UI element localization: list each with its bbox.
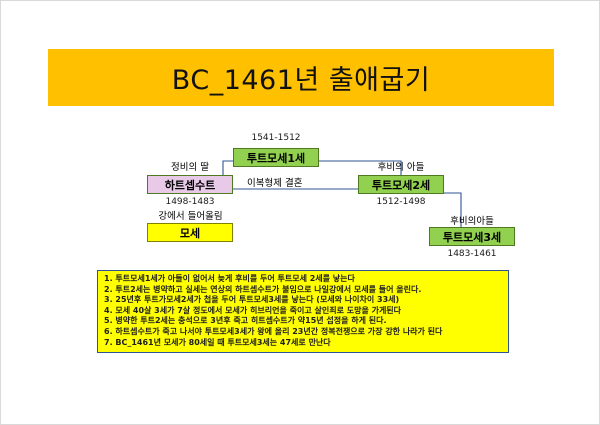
thutmose3-dates: 1483-1461 xyxy=(429,249,515,259)
notes-box: 1. 투트모세1세가 아들이 없어서 늦게 후비를 두어 투트모세 2세를 낳는… xyxy=(97,270,509,353)
hatshepsut-subcaption: 강에서 들어올림 xyxy=(143,208,238,222)
note-line: 5. 병약한 투트2세는 충석으로 3년후 죽고 히트셉수트가 약15년 섭정을… xyxy=(104,316,503,327)
node-hatshepsut[interactable]: 하트셉수트 xyxy=(147,175,233,194)
node-moses[interactable]: 모세 xyxy=(147,223,233,242)
note-line: 3. 25년후 투트가모세2세가 첩을 두어 투트모세3세를 낳는다 (모세와 … xyxy=(104,295,503,306)
note-line: 6. 하트셉수트가 죽고 나서야 투트모세3세가 왕에 올리 23년간 정복전쟁… xyxy=(104,327,503,338)
thutmose3-caption: 후비의아들 xyxy=(429,213,515,227)
thutmose2-caption: 후비의 아들 xyxy=(358,159,444,173)
node-moses-label: 모세 xyxy=(180,225,200,241)
slide-canvas: BC_1461년 출애굽기 1541-1512 투트모 xyxy=(0,0,600,425)
note-line: 7. BC_1461년 모세가 80세일 때 투트모세3세는 47세로 만난다 xyxy=(104,338,503,349)
thutmose1-dates: 1541-1512 xyxy=(241,133,311,143)
note-line: 4. 모세 40살 3세가 7살 정도에서 모세가 히브리언을 죽이고 살인죄로… xyxy=(104,306,503,317)
node-thutmose3[interactable]: 투트모세3세 xyxy=(429,227,515,246)
node-thutmose2-label: 투트모세2세 xyxy=(372,177,430,193)
note-line: 1. 투트모세1세가 아들이 없어서 늦게 후비를 두어 투트모세 2세를 낳는… xyxy=(104,274,503,285)
page-title: BC_1461년 출애굽기 xyxy=(172,58,430,97)
node-thutmose3-label: 투트모세3세 xyxy=(443,229,501,245)
node-hatshepsut-label: 하트셉수트 xyxy=(165,177,216,193)
title-banner: BC_1461년 출애굽기 xyxy=(48,49,554,106)
node-thutmose1-label: 투트모세1세 xyxy=(247,150,305,166)
hatshepsut-dates: 1498-1483 xyxy=(147,197,233,207)
node-thutmose2[interactable]: 투트모세2세 xyxy=(358,175,444,194)
note-line: 2. 투트2세는 병약하고 실세는 연상의 하트셉수트가 불임으로 나일강에서 … xyxy=(104,285,503,296)
family-tree-diagram: 1541-1512 투트모세1세 정비의 딸 하트셉수트 1498-1483 강… xyxy=(1,113,600,263)
hatshepsut-caption: 정비의 딸 xyxy=(147,159,233,173)
node-thutmose1[interactable]: 투트모세1세 xyxy=(233,148,319,167)
thutmose2-dates: 1512-1498 xyxy=(358,197,444,207)
edge-label-marriage: 이복형제 결혼 xyxy=(247,175,302,189)
